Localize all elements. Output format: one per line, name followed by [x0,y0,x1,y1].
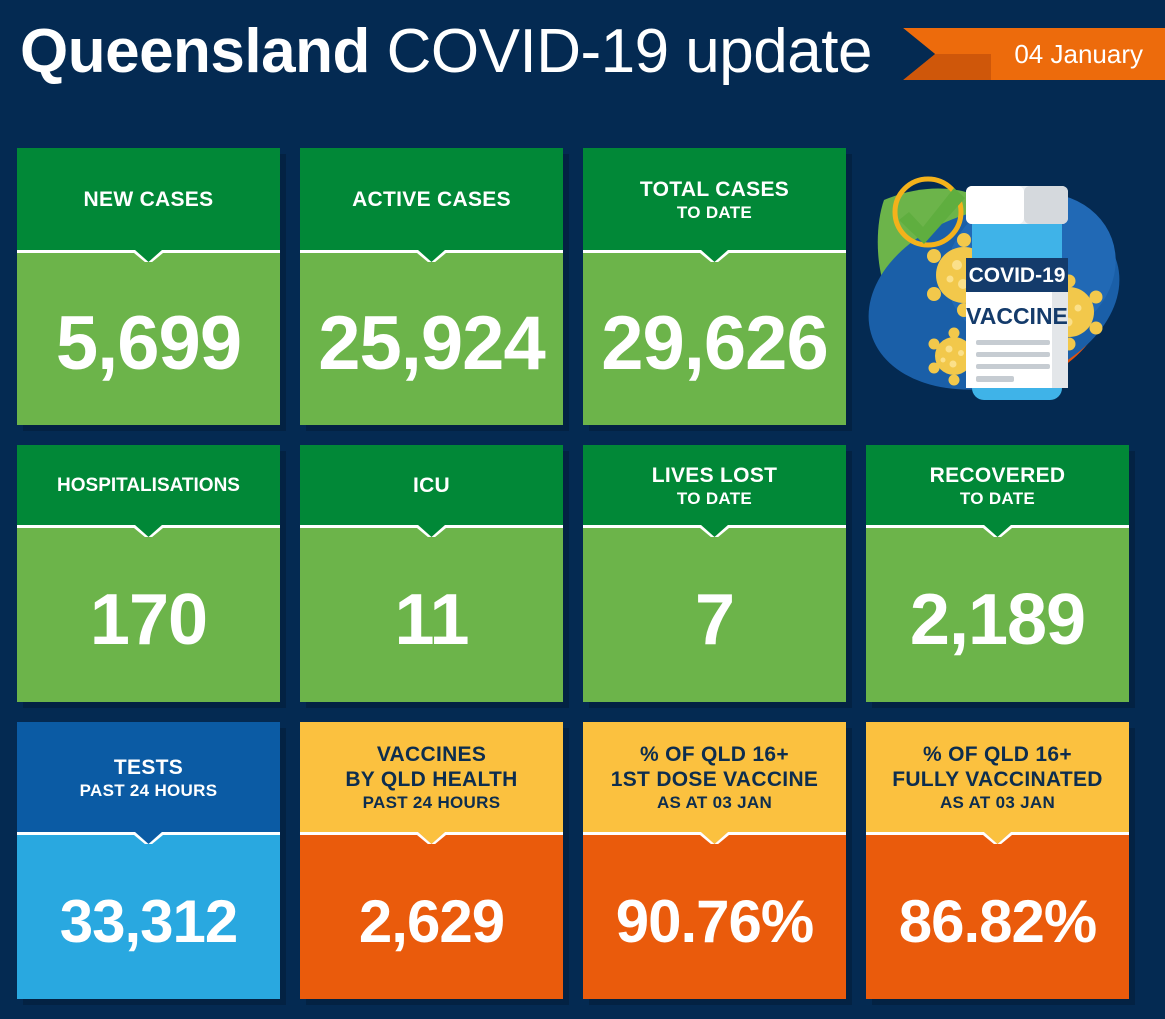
card-notch-divider [583,520,846,537]
card-notch-divider [17,827,280,844]
stat-card-header: % OF QLD 16+ FULLY VACCINATED AS AT 03 J… [866,722,1129,827]
stat-card-new-cases[interactable]: NEW CASES 5,699 [17,148,280,425]
stat-card-title-line2: 1ST DOSE VACCINE [611,767,818,792]
stat-value: 7 [695,584,734,656]
chevron-down-icon [300,245,563,262]
stat-card-title: TOTAL CASES [640,177,789,202]
vaccine-illustration-icon: COVID-19 VACCINE [866,148,1129,425]
chevron-down-icon [17,827,280,844]
stat-value: 11 [394,584,468,656]
stat-card-body: 11 [300,537,563,702]
stat-card-title: ICU [413,473,450,498]
stat-value: 2,629 [359,892,504,952]
stat-card-title-line2: BY QLD HEALTH [345,767,517,792]
stat-card-tests[interactable]: TESTS PAST 24 HOURS 33,312 [17,722,280,999]
stat-value: 170 [90,584,207,656]
card-notch-divider [300,245,563,262]
stat-card-title-line2: FULLY VACCINATED [892,767,1103,792]
stat-card-header: NEW CASES [17,148,280,245]
stat-card-title: RECOVERED [930,463,1066,488]
stat-card-header: ACTIVE CASES [300,148,563,245]
stat-card-title: LIVES LOST [652,463,778,488]
page-title-light: COVID-19 update [387,17,872,86]
stat-card-body: 86.82% [866,844,1129,999]
stat-card-subtitle: AS AT 03 JAN [940,792,1055,813]
stats-row-3: TESTS PAST 24 HOURS 33,312 VACCINES BY Q… [17,722,1148,999]
stat-card-subtitle: TO DATE [960,488,1035,509]
chevron-down-icon [17,245,280,262]
vial-label-top: COVID-19 [969,264,1066,287]
stat-card-body: 7 [583,537,846,702]
stat-value: 5,699 [56,306,241,382]
date-ribbon: 04 January [903,28,1165,80]
stat-card-body: 25,924 [300,262,563,425]
stat-card-header: RECOVERED TO DATE [866,445,1129,520]
chevron-down-icon [17,520,280,537]
stats-row-1: NEW CASES 5,699 ACTIVE CASES [17,148,1148,425]
stat-value: 90.76% [616,892,814,952]
stat-card-subtitle: AS AT 03 JAN [657,792,772,813]
stat-card-recovered[interactable]: RECOVERED TO DATE 2,189 [866,445,1129,702]
card-notch-divider [866,520,1129,537]
stat-card-title: NEW CASES [84,187,214,212]
stat-card-total-cases[interactable]: TOTAL CASES TO DATE 29,626 [583,148,846,425]
stat-card-active-cases[interactable]: ACTIVE CASES 25,924 [300,148,563,425]
stat-card-title: VACCINES [377,742,486,767]
chevron-down-icon [583,520,846,537]
stat-card-header: LIVES LOST TO DATE [583,445,846,520]
stat-card-header: TOTAL CASES TO DATE [583,148,846,245]
stat-card-fully-vaccinated[interactable]: % OF QLD 16+ FULLY VACCINATED AS AT 03 J… [866,722,1129,999]
card-notch-divider [583,245,846,262]
stat-card-lives-lost[interactable]: LIVES LOST TO DATE 7 [583,445,846,702]
chevron-down-icon [300,520,563,537]
stat-value: 29,626 [601,306,827,382]
stat-card-header: % OF QLD 16+ 1ST DOSE VACCINE AS AT 03 J… [583,722,846,827]
stat-card-subtitle: TO DATE [677,488,752,509]
stat-card-vaccines[interactable]: VACCINES BY QLD HEALTH PAST 24 HOURS 2,6… [300,722,563,999]
stat-card-title: ACTIVE CASES [352,187,511,212]
stat-value: 33,312 [60,892,238,952]
stat-card-body: 2,629 [300,844,563,999]
stat-value: 86.82% [899,892,1097,952]
stats-grid: NEW CASES 5,699 ACTIVE CASES [17,148,1148,1019]
stat-card-body: 33,312 [17,844,280,999]
stat-card-subtitle: PAST 24 HOURS [80,780,218,801]
stat-card-body: 5,699 [17,262,280,425]
stat-card-title: TESTS [114,755,183,780]
card-notch-divider [17,245,280,262]
stat-card-hospitalisations[interactable]: HOSPITALISATIONS 170 [17,445,280,702]
stat-card-header: ICU [300,445,563,520]
chevron-down-icon [583,245,846,262]
covid-vaccine-vial-illustration: COVID-19 VACCINE [866,148,1129,425]
stat-card-body: 90.76% [583,844,846,999]
stat-card-header: VACCINES BY QLD HEALTH PAST 24 HOURS [300,722,563,827]
stat-card-title: % OF QLD 16+ [640,742,789,767]
chevron-down-icon [866,827,1129,844]
page-title-bold: Queensland [20,17,370,86]
stat-card-body: 2,189 [866,537,1129,702]
chevron-down-icon [866,520,1129,537]
stat-value: 2,189 [910,584,1085,656]
card-notch-divider [17,520,280,537]
stat-card-header: HOSPITALISATIONS [17,445,280,520]
page-header: Queensland COVID-19 update 04 January [0,0,1165,130]
chevron-down-icon [583,827,846,844]
stat-card-first-dose[interactable]: % OF QLD 16+ 1ST DOSE VACCINE AS AT 03 J… [583,722,846,999]
date-label: 04 January [903,28,1165,80]
stat-card-subtitle: TO DATE [677,202,752,223]
stat-card-header: TESTS PAST 24 HOURS [17,722,280,827]
stats-row-2: HOSPITALISATIONS 170 ICU [17,445,1148,702]
vial-label-bottom: VACCINE [966,303,1068,329]
stat-value: 25,924 [318,306,544,382]
card-notch-divider [300,520,563,537]
chevron-down-icon [300,827,563,844]
stat-card-title: HOSPITALISATIONS [57,473,240,498]
page-title: Queensland COVID-19 update [20,12,872,92]
stat-card-body: 29,626 [583,262,846,425]
card-notch-divider [866,827,1129,844]
stat-card-subtitle: PAST 24 HOURS [363,792,501,813]
stat-card-title: % OF QLD 16+ [923,742,1072,767]
card-notch-divider [583,827,846,844]
stat-card-body: 170 [17,537,280,702]
stat-card-icu[interactable]: ICU 11 [300,445,563,702]
card-notch-divider [300,827,563,844]
